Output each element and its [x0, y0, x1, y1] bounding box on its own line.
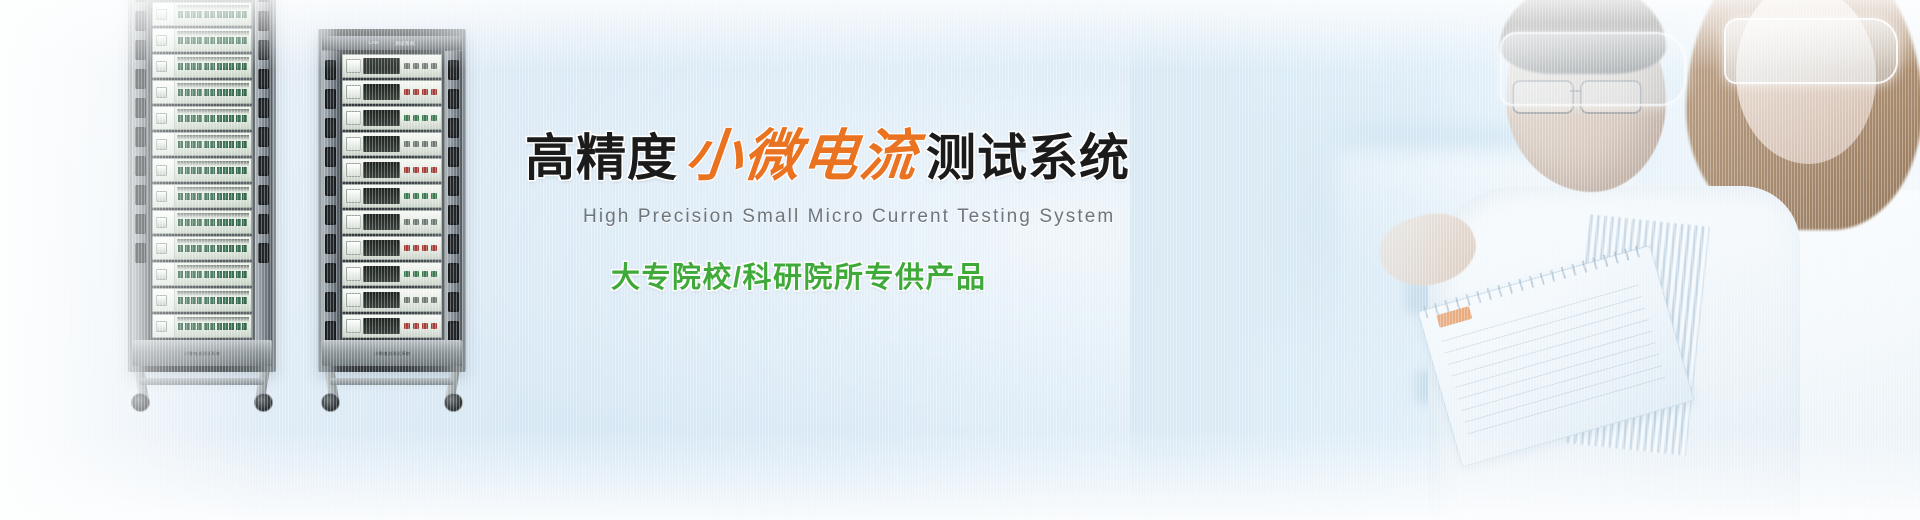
rack-crossbar [140, 378, 264, 385]
channel-port [178, 115, 183, 122]
channel-port [217, 63, 222, 70]
subtitle-english: High Precision Small Micro Current Testi… [583, 206, 1145, 228]
channel-port [236, 271, 241, 278]
module-display [156, 217, 167, 228]
instrument-label [346, 137, 361, 151]
channel-port [236, 193, 241, 200]
channel-port [229, 245, 234, 252]
module-left-panel [153, 133, 175, 155]
channel-port [210, 115, 215, 122]
channel-port [229, 167, 234, 174]
channel-port [229, 89, 234, 96]
channel-port [197, 89, 202, 96]
rack-instrument [342, 262, 442, 286]
control-button [431, 115, 437, 121]
rack-crossbar [330, 378, 454, 385]
control-button [431, 167, 437, 173]
channel-port [236, 245, 241, 252]
channel-port [185, 37, 190, 44]
instrument-controls [404, 315, 441, 337]
channel-port [217, 37, 222, 44]
module-display [156, 191, 167, 202]
channel-port [236, 89, 241, 96]
channel-port [223, 11, 228, 18]
instrument-controls [404, 211, 441, 233]
module-channel-row [175, 29, 251, 51]
channel-port [217, 89, 222, 96]
channel-port [242, 323, 247, 330]
channel-port [223, 219, 228, 226]
channel-port [236, 141, 241, 148]
module-display [156, 9, 167, 20]
channel-port [204, 37, 209, 44]
module-channel-row [175, 3, 251, 25]
rack-rail-left [132, 0, 149, 366]
channel-port [217, 115, 222, 122]
rack-rail-right [255, 0, 272, 366]
channel-port [223, 115, 228, 122]
safety-goggles-icon [1500, 32, 1686, 106]
channel-port [185, 271, 190, 278]
module-display [156, 269, 167, 280]
control-button [431, 141, 437, 147]
rack-base-panel: 小微电流测试系统 [322, 340, 462, 366]
control-button [404, 297, 410, 303]
channel-port [191, 37, 196, 44]
channel-port [229, 323, 234, 330]
channel-port [191, 141, 196, 148]
channel-port [185, 11, 190, 18]
rack-module [152, 314, 252, 338]
rack-module [152, 106, 252, 130]
channel-port [223, 323, 228, 330]
control-button [404, 141, 410, 147]
channel-port [229, 63, 234, 70]
rack-instrument [342, 288, 442, 312]
channel-port [217, 141, 222, 148]
module-left-panel [153, 211, 175, 233]
channel-port [217, 271, 222, 278]
equipment-rack-a: LAB 测试系统 小微电流测试系统 [128, 0, 276, 412]
control-button [422, 167, 428, 173]
module-display [156, 61, 167, 72]
channel-port [223, 193, 228, 200]
rack-instrument [342, 54, 442, 78]
control-button [413, 297, 419, 303]
rack-brand-bar: LAB 测试系统 [322, 36, 462, 50]
channel-port [191, 271, 196, 278]
headline: 高精度 小微电流 测试系统 [525, 128, 1145, 184]
lab-photo [1130, 0, 1920, 520]
instrument-label [346, 189, 361, 203]
control-button [431, 193, 437, 199]
module-left-panel [153, 81, 175, 103]
channel-port [197, 141, 202, 148]
channel-port [185, 141, 190, 148]
module-left-panel [153, 159, 175, 181]
instrument-controls [404, 289, 441, 311]
channel-port [217, 323, 222, 330]
caster-wheel [321, 393, 340, 412]
rack-base-panel: 小微电流测试系统 [132, 340, 272, 366]
channel-port [197, 219, 202, 226]
rack-module-stack [152, 0, 252, 338]
control-button [404, 115, 410, 121]
rack-instrument [342, 210, 442, 234]
control-button [404, 167, 410, 173]
instrument-display [363, 188, 400, 204]
instrument-display [363, 84, 400, 100]
channel-port [197, 323, 202, 330]
control-button [422, 219, 428, 225]
rack-frame: LAB 测试系统 小微电流测试系统 [318, 29, 466, 372]
channel-port [204, 89, 209, 96]
rack-module [152, 132, 252, 156]
channel-port [197, 11, 202, 18]
channel-port [191, 193, 196, 200]
channel-port [204, 193, 209, 200]
channel-port [197, 271, 202, 278]
channel-port [204, 271, 209, 278]
instrument-display [363, 110, 400, 126]
rack-module [152, 2, 252, 26]
channel-port [242, 167, 247, 174]
module-channel-row [175, 263, 251, 285]
channel-port [197, 115, 202, 122]
channel-port [178, 141, 183, 148]
control-button [413, 245, 419, 251]
channel-port [210, 271, 215, 278]
rack-instrument [342, 184, 442, 208]
instrument-display [363, 136, 400, 152]
rack-instrument [342, 80, 442, 104]
control-button [413, 141, 419, 147]
module-left-panel [153, 29, 175, 51]
channel-port [217, 219, 222, 226]
channel-port [236, 219, 241, 226]
module-left-panel [153, 237, 175, 259]
control-button [404, 245, 410, 251]
instrument-display [363, 266, 400, 282]
channel-port [242, 193, 247, 200]
control-button [404, 193, 410, 199]
channel-port [242, 89, 247, 96]
module-display [156, 295, 167, 306]
instrument-controls [404, 237, 441, 259]
instrument-display [363, 214, 400, 230]
module-top-bar [177, 57, 249, 62]
module-top-bar [177, 291, 249, 296]
headline-suffix: 测试系统 [926, 133, 1130, 183]
instrument-label [346, 293, 361, 307]
rack-brand-left: LAB [368, 40, 378, 45]
channel-port [185, 245, 190, 252]
channel-port [204, 141, 209, 148]
channel-port [178, 193, 183, 200]
instrument-controls [404, 159, 441, 181]
channel-port [178, 271, 183, 278]
channel-port [236, 115, 241, 122]
rack-module [152, 80, 252, 104]
channel-port [242, 11, 247, 18]
channel-port [204, 219, 209, 226]
rack-legs [128, 372, 276, 412]
channel-port [217, 167, 222, 174]
channel-port [197, 297, 202, 304]
equipment-rack-b: LAB 测试系统 小微电流测试系统 [318, 29, 466, 412]
channel-port [229, 193, 234, 200]
module-channel-row [175, 211, 251, 233]
caster-wheel [131, 393, 150, 412]
control-button [431, 89, 437, 95]
module-left-panel [153, 107, 175, 129]
rack-module [152, 184, 252, 208]
control-button [431, 245, 437, 251]
control-button [413, 167, 419, 173]
rack-module-stack [342, 54, 442, 338]
module-left-panel [153, 185, 175, 207]
rack-instrument [342, 314, 442, 338]
channel-port [204, 297, 209, 304]
control-button [422, 193, 428, 199]
instrument-controls [404, 81, 441, 103]
channel-port [197, 37, 202, 44]
module-channel-row [175, 237, 251, 259]
subtitle-chinese: 大专院校/科研院所专供产品 [611, 254, 1145, 296]
control-button [413, 219, 419, 225]
control-button [404, 63, 410, 69]
control-button [413, 323, 419, 329]
channel-port [236, 297, 241, 304]
channel-port [223, 245, 228, 252]
channel-port [242, 63, 247, 70]
channel-port [178, 245, 183, 252]
instrument-label [346, 267, 361, 281]
control-button [404, 219, 410, 225]
channel-port [217, 245, 222, 252]
channel-port [210, 297, 215, 304]
rack-module [152, 210, 252, 234]
module-display [156, 165, 167, 176]
control-button [422, 271, 428, 277]
rack-rail-right [445, 51, 462, 366]
channel-port [223, 63, 228, 70]
control-button [404, 323, 410, 329]
channel-port [197, 193, 202, 200]
module-channel-row [175, 133, 251, 155]
channel-port [210, 63, 215, 70]
channel-port [229, 115, 234, 122]
module-channel-row [175, 107, 251, 129]
channel-port [191, 297, 196, 304]
caster-wheel [444, 393, 463, 412]
control-button [404, 89, 410, 95]
channel-port [229, 11, 234, 18]
instrument-label [346, 241, 361, 255]
headline-accent: 小微电流 [683, 128, 921, 184]
channel-port [178, 323, 183, 330]
channel-port [178, 63, 183, 70]
module-channel-row [175, 55, 251, 77]
rack-legs [318, 372, 466, 412]
channel-port [236, 323, 241, 330]
channel-port [210, 37, 215, 44]
channel-port [229, 219, 234, 226]
rack-module [152, 158, 252, 182]
module-display [156, 139, 167, 150]
instrument-label [346, 85, 361, 99]
channel-port [185, 89, 190, 96]
rack-base-label: 小微电流测试系统 [374, 350, 410, 356]
control-button [404, 271, 410, 277]
channel-port [197, 167, 202, 174]
rack-brand-right: 测试系统 [396, 40, 416, 46]
instrument-label [346, 111, 361, 125]
channel-port [223, 141, 228, 148]
channel-port [197, 245, 202, 252]
instrument-controls [404, 133, 441, 155]
instrument-controls [404, 263, 441, 285]
module-channel-row [175, 81, 251, 103]
rack-module [152, 28, 252, 52]
channel-port [185, 323, 190, 330]
channel-port [242, 271, 247, 278]
instrument-label [346, 319, 361, 333]
channel-port [210, 193, 215, 200]
module-display [156, 87, 167, 98]
module-top-bar [177, 187, 249, 192]
control-button [422, 297, 428, 303]
channel-port [229, 297, 234, 304]
channel-port [197, 63, 202, 70]
channel-port [185, 115, 190, 122]
rack-base-label: 小微电流测试系统 [184, 350, 220, 356]
channel-port [191, 63, 196, 70]
module-left-panel [153, 55, 175, 77]
channel-port [229, 141, 234, 148]
channel-port [178, 297, 183, 304]
channel-port [191, 323, 196, 330]
rack-rail-left [322, 51, 339, 366]
control-button [431, 219, 437, 225]
channel-port [210, 89, 215, 96]
channel-port [210, 141, 215, 148]
channel-port [229, 271, 234, 278]
control-button [431, 63, 437, 69]
channel-port [223, 89, 228, 96]
channel-port [191, 89, 196, 96]
module-left-panel [153, 289, 175, 311]
module-top-bar [177, 265, 249, 270]
control-button [422, 115, 428, 121]
control-button [413, 193, 419, 199]
channel-port [185, 297, 190, 304]
module-top-bar [177, 135, 249, 140]
channel-port [242, 115, 247, 122]
module-top-bar [177, 5, 249, 10]
product-banner: LAB 测试系统 小微电流测试系统 LAB 测试系统 [0, 0, 1920, 520]
module-display [156, 243, 167, 254]
channel-port [236, 63, 241, 70]
instrument-controls [404, 185, 441, 207]
control-button [422, 323, 428, 329]
rack-frame: LAB 测试系统 小微电流测试系统 [128, 0, 276, 372]
rack-instrument [342, 106, 442, 130]
instrument-label [346, 215, 361, 229]
channel-port [191, 11, 196, 18]
channel-port [236, 11, 241, 18]
channel-port [210, 323, 215, 330]
module-channel-row [175, 185, 251, 207]
channel-port [223, 297, 228, 304]
module-display [156, 113, 167, 124]
control-button [431, 271, 437, 277]
module-left-panel [153, 315, 175, 337]
control-button [431, 323, 437, 329]
rack-instrument [342, 236, 442, 260]
rack-module [152, 262, 252, 286]
channel-port [178, 89, 183, 96]
channel-port [185, 219, 190, 226]
rack-module [152, 54, 252, 78]
channel-port [204, 323, 209, 330]
control-button [413, 89, 419, 95]
channel-port [223, 271, 228, 278]
module-top-bar [177, 161, 249, 166]
instrument-display [363, 58, 400, 74]
rack-module [152, 288, 252, 312]
module-top-bar [177, 213, 249, 218]
control-button [413, 271, 419, 277]
channel-port [178, 219, 183, 226]
module-left-panel [153, 263, 175, 285]
module-display [156, 35, 167, 46]
module-channel-row [175, 289, 251, 311]
rack-module [152, 236, 252, 260]
channel-port [242, 245, 247, 252]
control-button [422, 245, 428, 251]
channel-port [204, 245, 209, 252]
instrument-controls [404, 55, 441, 77]
channel-port [242, 141, 247, 148]
channel-port [204, 115, 209, 122]
channel-port [178, 167, 183, 174]
channel-port [236, 167, 241, 174]
channel-port [217, 11, 222, 18]
channel-port [185, 63, 190, 70]
instrument-display [363, 292, 400, 308]
rack-instrument [342, 132, 442, 156]
channel-port [229, 37, 234, 44]
channel-port [191, 219, 196, 226]
module-channel-row [175, 159, 251, 181]
channel-port [223, 167, 228, 174]
module-top-bar [177, 109, 249, 114]
channel-port [210, 245, 215, 252]
channel-port [204, 63, 209, 70]
channel-port [242, 219, 247, 226]
channel-port [191, 245, 196, 252]
channel-port [178, 37, 183, 44]
module-top-bar [177, 317, 249, 322]
caster-wheel [254, 393, 273, 412]
channel-port [217, 193, 222, 200]
instrument-display [363, 162, 400, 178]
control-button [413, 63, 419, 69]
module-display [156, 321, 167, 332]
channel-port [191, 115, 196, 122]
channel-port [223, 37, 228, 44]
